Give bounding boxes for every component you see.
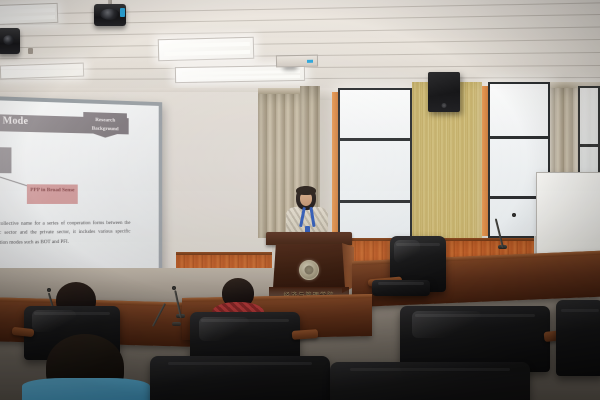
microphone-head-right <box>512 213 516 217</box>
chair-foreground <box>150 356 330 400</box>
microphone-head-left <box>47 288 51 292</box>
recessed-light-panel-far <box>0 63 84 80</box>
wall-speaker <box>428 72 460 112</box>
microphone-base-center2 <box>172 322 181 326</box>
slide-node-box <box>0 147 11 173</box>
podium-top <box>266 232 352 245</box>
university-emblem-icon <box>299 260 319 280</box>
microphone-head-center <box>172 286 176 290</box>
ceiling-sprinkler <box>28 48 33 54</box>
slide-ppp-box: PPP in Broad Sense <box>27 184 78 204</box>
chair-seat-back-right <box>372 280 430 296</box>
recessed-light-panel-right <box>175 65 305 83</box>
conference-room-photo: n Mode Research Background PPP in Broad … <box>0 0 600 400</box>
ceiling-camera <box>0 28 20 54</box>
chair-far-right <box>556 300 600 376</box>
chair-foreground-right <box>330 362 530 400</box>
ceiling-vent <box>276 55 318 68</box>
ceiling-projector <box>94 4 126 26</box>
foreground-person-body <box>22 378 150 400</box>
slide-section-tag: Research Background <box>83 112 127 138</box>
podium-front-panel <box>273 244 345 288</box>
recessed-light-panel-center <box>158 37 255 62</box>
slide-body-text: is a collective name for a series of coo… <box>0 219 130 248</box>
chair-arm-front-center <box>292 329 319 340</box>
window-jamb-left <box>332 92 338 238</box>
window-left <box>338 88 412 240</box>
window-jamb-right <box>482 86 488 236</box>
recessed-light-panel-left <box>0 3 58 25</box>
